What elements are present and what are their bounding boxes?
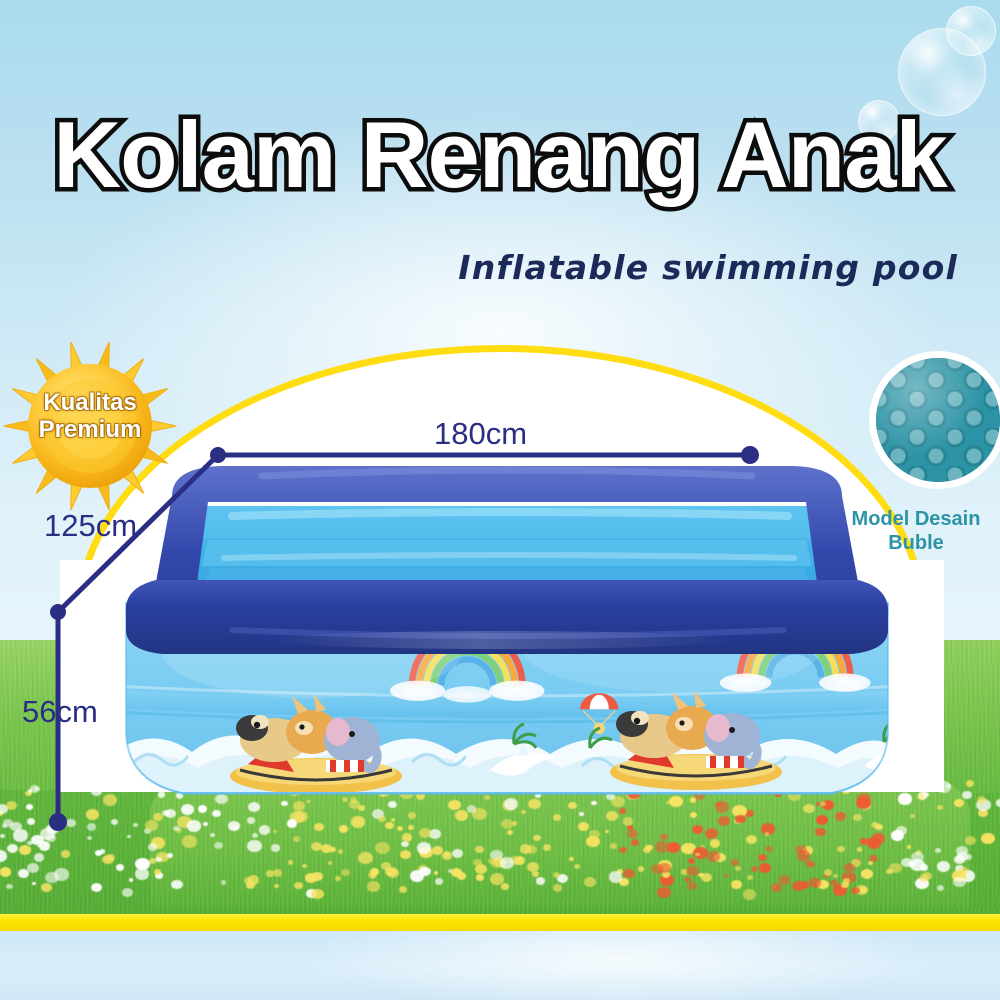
flower-icon <box>87 823 96 830</box>
flower-icon <box>0 834 5 838</box>
bubble-design-swatch <box>876 358 1000 482</box>
flower-icon <box>937 885 944 891</box>
flower-icon <box>841 882 849 888</box>
flower-icon <box>490 873 504 885</box>
swatch-sheen <box>876 358 1000 482</box>
flower-icon <box>302 864 307 868</box>
flower-icon <box>314 823 323 831</box>
flower-icon <box>133 823 137 827</box>
flower-icon <box>387 868 399 878</box>
flower-icon <box>13 829 28 841</box>
flower-icon <box>643 847 651 853</box>
flower-icon <box>66 819 75 826</box>
flower-icon <box>0 867 11 877</box>
flower-icon <box>609 871 623 882</box>
flower-icon <box>27 863 39 873</box>
flower-icon <box>707 851 721 862</box>
flower-icon <box>247 817 255 823</box>
flower-icon <box>553 814 561 821</box>
flower-icon <box>273 830 277 833</box>
flower-icon <box>26 804 33 810</box>
flower-icon <box>771 883 782 892</box>
flower-icon <box>501 883 509 890</box>
footer-band <box>0 931 1000 1000</box>
flower-icon <box>584 877 596 887</box>
flower-icon <box>917 793 925 800</box>
premium-badge-line1: Kualitas <box>2 390 178 417</box>
flower-icon <box>526 845 537 854</box>
flower-icon <box>246 881 255 889</box>
flower-icon <box>148 843 157 851</box>
flower-icon <box>182 835 197 847</box>
flower-icon <box>853 814 862 821</box>
flower-icon <box>532 871 540 877</box>
flower-icon <box>937 861 950 872</box>
flower-icon <box>868 861 873 865</box>
flower-icon <box>288 860 294 865</box>
flower-icon <box>50 819 62 829</box>
flower-icon <box>408 825 413 829</box>
flower-icon <box>835 812 846 821</box>
flower-icon <box>765 832 770 836</box>
flower-icon <box>252 833 258 838</box>
flower-icon <box>358 852 372 864</box>
flower-icon <box>171 880 182 889</box>
flower-icon <box>660 834 668 840</box>
flower-icon <box>512 821 518 826</box>
flower-icon <box>758 854 767 861</box>
flower-icon <box>695 853 699 856</box>
flower-icon <box>922 872 932 880</box>
flower-icon <box>452 849 463 858</box>
flower-icon <box>294 882 302 889</box>
flower-icon <box>87 836 92 840</box>
flower-icon <box>816 815 828 825</box>
bubble-badge-line2: Buble <box>832 532 1000 556</box>
flower-icon <box>907 845 911 849</box>
flower-icon <box>295 811 308 821</box>
soap-bubble-icon <box>946 6 996 56</box>
flower-icon <box>30 785 39 792</box>
flower-icon <box>173 826 179 831</box>
flower-icon <box>321 844 332 853</box>
dimension-label-width: 180cm <box>434 416 527 452</box>
flower-icon <box>657 887 671 898</box>
flower-icon <box>122 888 134 898</box>
flower-icon <box>341 869 350 876</box>
flower-icon <box>400 850 411 859</box>
flower-icon <box>692 825 703 834</box>
flower-icon <box>501 819 513 829</box>
flower-icon <box>475 846 484 853</box>
flower-icon <box>623 869 635 879</box>
flower-icon <box>6 801 17 810</box>
flower-icon <box>815 828 825 836</box>
flower-icon <box>40 828 55 840</box>
flower-icon <box>3 819 13 827</box>
flower-icon <box>127 835 131 838</box>
flower-icon <box>690 812 697 818</box>
flower-icon <box>41 883 52 892</box>
flower-icon <box>569 857 574 861</box>
flower-icon <box>688 858 696 864</box>
flower-icon <box>434 871 438 874</box>
flower-icon <box>432 846 442 854</box>
flower-icon <box>27 818 35 825</box>
premium-quality-badge: Kualitas Premium <box>2 338 178 514</box>
flower-icon <box>100 849 105 853</box>
flower-icon <box>221 880 227 885</box>
flower-icon <box>824 869 832 876</box>
flower-icon <box>658 863 671 874</box>
flower-icon <box>735 815 745 824</box>
flower-icon <box>954 855 965 864</box>
flower-icon <box>335 876 340 880</box>
flower-icon <box>966 780 975 787</box>
flower-icon <box>311 889 324 900</box>
flower-icon <box>111 819 118 825</box>
flower-icon <box>735 866 741 871</box>
flower-icon <box>901 858 912 867</box>
flower-icon <box>867 837 881 849</box>
flower-icon <box>338 849 343 853</box>
flower-icon <box>210 833 215 837</box>
flower-icon <box>385 822 394 829</box>
flower-icon <box>6 884 12 889</box>
flower-icon <box>809 878 821 887</box>
flower-icon <box>135 868 150 880</box>
flower-icon <box>543 844 551 851</box>
flower-icon <box>367 881 380 891</box>
flower-icon <box>339 825 348 832</box>
flower-icon <box>214 842 223 849</box>
flower-icon <box>116 864 124 870</box>
flower-icon <box>743 889 756 900</box>
flower-icon <box>419 828 431 838</box>
flower-icon <box>305 873 317 883</box>
flower-icon <box>667 842 681 853</box>
flower-icon <box>410 870 425 882</box>
flower-icon <box>953 877 966 888</box>
flower-icon <box>751 866 758 872</box>
flower-icon <box>287 819 297 827</box>
flower-icon <box>32 882 36 885</box>
flower-icon <box>705 828 719 839</box>
flower-icon <box>274 884 279 888</box>
flower-icon <box>779 875 791 884</box>
flower-icon <box>500 857 514 869</box>
flower-icon <box>954 799 964 807</box>
flower-icon <box>293 836 300 842</box>
flower-icon <box>631 839 640 846</box>
flower-icon <box>247 840 261 852</box>
dimension-label-height: 56cm <box>22 694 98 730</box>
flower-icon <box>408 812 416 819</box>
flower-icon <box>399 886 407 893</box>
flower-icon <box>435 878 443 885</box>
flower-icon <box>962 791 973 800</box>
premium-badge-label: Kualitas Premium <box>2 390 178 444</box>
flower-icon <box>391 818 396 822</box>
flower-icon <box>533 835 540 841</box>
page-title: Kolam Renang Anak <box>0 108 1000 202</box>
accent-bar <box>0 914 1000 931</box>
flower-icon <box>514 856 525 865</box>
flower-icon <box>795 845 806 854</box>
flower-icon <box>402 833 412 841</box>
flower-icon <box>34 853 45 862</box>
flower-icon <box>553 884 562 892</box>
flower-icon <box>86 809 100 820</box>
flower-icon <box>328 861 333 865</box>
flower-icon <box>586 836 600 847</box>
flower-icon <box>875 824 883 831</box>
pool-illustration <box>112 462 902 812</box>
flower-icon <box>7 844 18 853</box>
flower-icon <box>746 835 757 844</box>
product-banner: Kolam Renang Anak Inflatable swimming po… <box>0 0 1000 1000</box>
flower-icon <box>378 816 386 822</box>
flower-icon <box>859 887 866 893</box>
flower-icon <box>965 836 976 845</box>
flower-icon <box>579 812 583 816</box>
flower-icon <box>747 875 753 880</box>
premium-badge-line2: Premium <box>2 417 178 444</box>
flower-icon <box>129 878 133 882</box>
flower-icon <box>724 874 728 877</box>
flower-icon <box>19 845 31 855</box>
flower-icon <box>93 884 101 891</box>
flower-icon <box>857 847 862 851</box>
flower-icon <box>759 863 771 873</box>
flower-icon <box>800 881 810 889</box>
flower-icon <box>710 839 720 848</box>
flower-icon <box>687 882 697 890</box>
flower-icon <box>937 805 943 810</box>
flower-icon <box>627 829 638 838</box>
flower-icon <box>167 853 173 858</box>
flower-icon <box>203 822 208 826</box>
flower-icon <box>149 858 156 864</box>
flower-icon <box>351 816 365 827</box>
flower-icon <box>375 842 390 854</box>
flower-icon <box>886 869 893 874</box>
flower-icon <box>731 880 741 889</box>
page-subtitle: Inflatable swimming pool <box>0 248 1000 287</box>
flower-icon <box>910 814 914 817</box>
flower-icon <box>273 869 283 877</box>
flower-icon <box>606 811 618 821</box>
flower-icon <box>61 850 70 857</box>
flower-icon <box>507 830 513 835</box>
flower-icon <box>228 821 239 830</box>
bubble-badge-line1: Model Desain <box>832 508 1000 532</box>
flower-icon <box>638 866 644 871</box>
flower-icon <box>271 844 280 851</box>
flower-icon <box>619 847 627 853</box>
flower-icon <box>476 874 484 880</box>
flower-icon <box>259 825 270 834</box>
flower-icon <box>765 846 772 852</box>
dimension-label-depth: 125cm <box>44 508 137 544</box>
flower-icon <box>0 850 7 862</box>
flower-icon <box>536 877 545 884</box>
flower-icon <box>981 833 996 845</box>
flower-icon <box>837 846 845 852</box>
flower-icon <box>370 868 379 876</box>
flower-icon <box>935 848 941 853</box>
bubble-badge-label: Model Desain Buble <box>832 508 1000 555</box>
flower-icon <box>145 820 159 831</box>
flower-icon <box>610 843 617 849</box>
flower-icon <box>605 830 609 833</box>
flower-icon <box>574 864 580 869</box>
flower-icon <box>833 874 838 878</box>
flower-icon <box>718 816 730 826</box>
flower-icon <box>45 872 59 883</box>
flower-icon <box>18 869 29 878</box>
flower-icon <box>187 820 201 831</box>
flower-icon <box>996 799 1000 806</box>
flower-icon <box>397 826 403 831</box>
flower-icon <box>861 869 873 879</box>
flower-icon <box>844 863 855 872</box>
flower-icon <box>578 822 589 831</box>
flower-icon <box>896 826 907 835</box>
